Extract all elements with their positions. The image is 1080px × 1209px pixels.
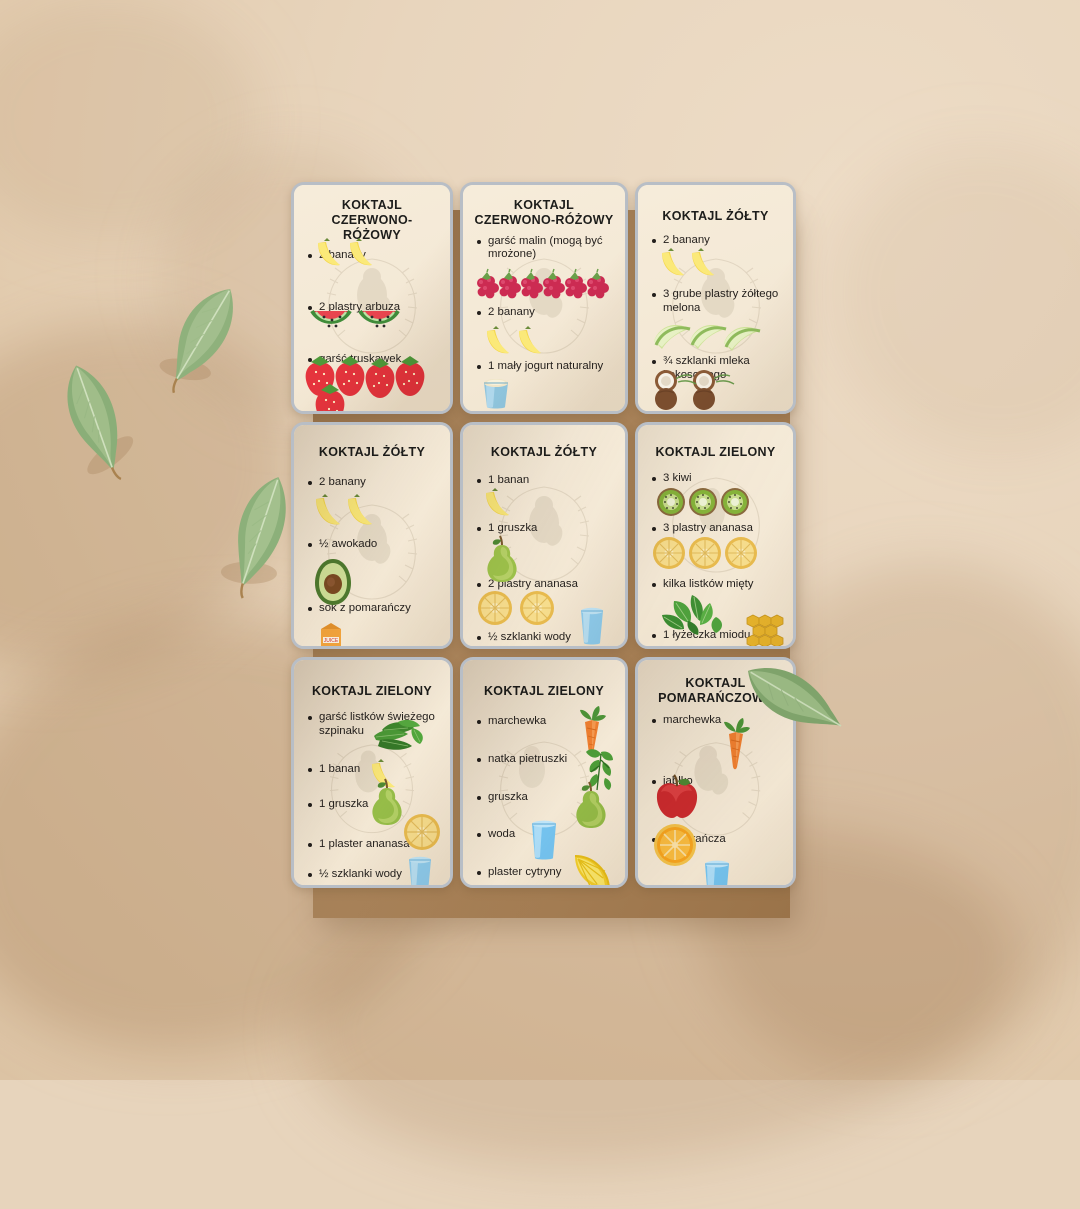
art-slot xyxy=(649,538,782,578)
ingredient-item: ½ szklanki wody xyxy=(305,868,439,882)
card-content: KOKTAJL ZIELONY 3 kiwi 3 plastry ananasa… xyxy=(638,425,793,646)
ingredient-item: garść truskawek xyxy=(305,353,439,367)
ingredient-item: 1 gruszka xyxy=(305,798,439,812)
art-slot xyxy=(305,778,439,798)
ingredient-list: 2 banany 2 plastry arbuza garść truskawe… xyxy=(305,249,439,367)
ingredient-item: 2 banany xyxy=(305,249,439,263)
art-slot xyxy=(649,729,782,775)
ingredient-item: garść listków świeżego szpinaku xyxy=(305,711,439,739)
recipe-card[interactable]: KOKTAJL CZERWONO-RÓŻOWY 2 banany 2 plast… xyxy=(291,182,453,414)
ingredient-item: pomarańcza xyxy=(649,833,782,847)
ingredient-item: 1 mały jogurt naturalny xyxy=(474,360,614,374)
ingredient-item: 1 plaster ananasa xyxy=(305,838,439,852)
art-slot xyxy=(474,264,614,306)
art-slot xyxy=(649,488,782,522)
art-slot xyxy=(474,322,614,360)
ingredient-list: 2 banany ½ awokado sok z pomarańczy xyxy=(305,476,439,616)
card-content: KOKTAJL ZIELONY garść listków świeżego s… xyxy=(294,660,450,885)
art-slot xyxy=(474,538,614,578)
art-slot xyxy=(474,490,614,522)
recipe-card[interactable]: KOKTAJL ZIELONY marchewka natka pietrusz… xyxy=(460,657,628,888)
ingredient-list: garść listków świeżego szpinaku 1 banan … xyxy=(305,711,439,882)
ingredient-item: 1 banan xyxy=(305,763,439,777)
card-title: KOKTAJL ZIELONY xyxy=(305,684,439,699)
recipe-card[interactable]: KOKTAJL CZERWONO-RÓŻOWY garść malin (mog… xyxy=(460,182,628,414)
art-slot xyxy=(305,814,439,838)
ingredient-item: gruszka xyxy=(474,791,614,805)
ingredient-item: ¾ szklanki mleka kokosowego xyxy=(649,355,782,383)
recipe-card[interactable]: KOKTAJL ZIELONY garść listków świeżego s… xyxy=(291,657,453,888)
ingredient-item: garść malin (mogą być mrożone) xyxy=(474,235,614,263)
art-slot xyxy=(474,731,614,753)
ingredient-item: 1 banan xyxy=(474,474,614,488)
recipe-card-grid: KOKTAJL CZERWONO-RÓŻOWY 2 banany 2 plast… xyxy=(291,182,788,888)
art-slot xyxy=(474,769,614,791)
art-slot xyxy=(305,741,439,763)
art-slot xyxy=(649,250,782,288)
ingredient-item: 2 banany xyxy=(474,306,614,320)
ingredient-item: ½ awokado xyxy=(305,538,439,552)
ingredient-item: 2 plastry ananasa xyxy=(474,578,614,592)
art-slot xyxy=(305,265,439,301)
ingredient-item: sok z pomarańczy xyxy=(305,602,439,616)
art-slot xyxy=(649,317,782,355)
art-slot xyxy=(474,806,614,828)
card-title: KOKTAJL CZERWONO-RÓŻOWY xyxy=(305,198,439,242)
card-title: KOKTAJL ZIELONY xyxy=(649,445,782,460)
ingredient-item: 3 plastry ananasa xyxy=(649,522,782,536)
ingredient-item: marchewka xyxy=(474,715,614,729)
ingredient-list: marchewka natka pietruszki gruszka woda … xyxy=(474,715,614,881)
recipe-card[interactable]: KOKTAJL ŻÓŁTY 2 banany ½ awokado sok z p… xyxy=(291,422,453,649)
ingredient-item: natka pietruszki xyxy=(474,753,614,767)
art-slot xyxy=(474,844,614,866)
ingredient-item: 2 banany xyxy=(649,234,782,248)
ingredient-item: 3 kiwi xyxy=(649,472,782,486)
card-title: KOKTAJL CZERWONO-RÓŻOWY xyxy=(474,198,614,228)
art-slot xyxy=(649,791,782,833)
ingredient-item: 3 grube plastry żółtego melona xyxy=(649,288,782,316)
art-slot xyxy=(305,854,439,868)
ingredient-item: 2 banany xyxy=(305,476,439,490)
ingredient-list: 2 banany 3 grube plastry żółtego melona … xyxy=(649,234,782,384)
ingredient-list: 3 kiwi 3 plastry ananasa kilka listków m… xyxy=(649,472,782,644)
ingredient-item: kilka listków mięty xyxy=(649,578,782,592)
card-content: KOKTAJL ŻÓŁTY 2 banany ½ awokado sok z p… xyxy=(294,425,450,646)
card-title: KOKTAJL ZIELONY xyxy=(474,684,614,699)
card-content: KOKTAJL ŻÓŁTY 1 banan 1 gruszka 2 plastr… xyxy=(463,425,625,646)
card-content: KOKTAJL CZERWONO-RÓŻOWY garść malin (mog… xyxy=(463,185,625,411)
ingredient-list: garść malin (mogą być mrożone) 2 banany … xyxy=(474,235,614,375)
recipe-card[interactable]: KOKTAJL ŻÓŁTY 1 banan 1 gruszka 2 plastr… xyxy=(460,422,628,649)
ingredient-list: marchewka jabłko pomarańcza woda xyxy=(649,714,782,889)
card-content: KOKTAJL CZERWONO-RÓŻOWY 2 banany 2 plast… xyxy=(294,185,450,411)
card-content: KOKTAJL ZIELONY marchewka natka pietrusz… xyxy=(463,660,625,885)
ingredient-item: ½ szklanki wody xyxy=(474,631,614,645)
ingredient-item: jabłko xyxy=(649,775,782,789)
card-content: KOKTAJL ŻÓŁTY 2 banany 3 grube plastry ż… xyxy=(638,185,793,411)
art-slot xyxy=(305,554,439,602)
ingredient-item: 1 gruszka xyxy=(474,522,614,536)
recipe-card[interactable]: KOKTAJL ZIELONY 3 kiwi 3 plastry ananasa… xyxy=(635,422,796,649)
card-title: KOKTAJL ŻÓŁTY xyxy=(305,445,439,460)
art-slot xyxy=(649,849,782,888)
card-title: KOKTAJL ŻÓŁTY xyxy=(474,445,614,460)
art-slot xyxy=(474,593,614,631)
art-slot xyxy=(305,317,439,353)
ingredient-item: woda xyxy=(474,828,614,842)
card-title: KOKTAJL ŻÓŁTY xyxy=(649,209,782,224)
ingredient-item: 2 plastry arbuza xyxy=(305,301,439,315)
ingredient-item: plaster cytryny xyxy=(474,866,614,880)
ingredient-list: 1 banan 1 gruszka 2 plastry ananasa ½ sz… xyxy=(474,474,614,646)
art-slot xyxy=(305,492,439,538)
recipe-card[interactable]: KOKTAJL ŻÓŁTY 2 banany 3 grube plastry ż… xyxy=(635,182,796,414)
art-slot xyxy=(649,593,782,629)
